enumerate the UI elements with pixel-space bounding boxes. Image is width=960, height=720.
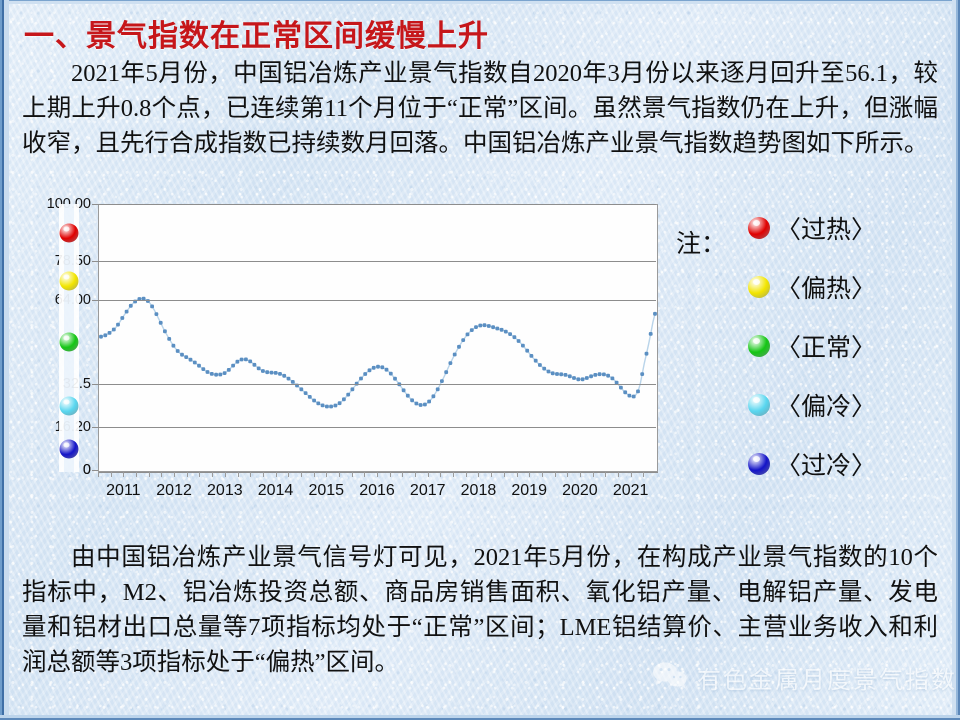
x-axis-tick	[174, 472, 175, 477]
x-axis-tick	[314, 472, 315, 477]
gridline	[98, 427, 656, 428]
x-axis-tick	[643, 472, 644, 477]
x-axis-tick	[238, 472, 239, 477]
x-axis-tick	[123, 472, 124, 477]
x-axis-tick	[440, 472, 441, 477]
legend-ball-icon	[748, 394, 770, 416]
x-axis-tick	[250, 472, 251, 477]
x-axis-tick	[529, 472, 530, 477]
x-axis-label: 2019	[511, 482, 547, 500]
gauge-ball-overheated	[60, 224, 79, 243]
x-axis-tick	[402, 472, 403, 477]
legend-item-label: 〈过热〉	[776, 210, 876, 246]
page-border-bottom	[0, 715, 960, 720]
y-axis-tick	[92, 470, 98, 471]
page-title: 一、景气指数在正常区间缓慢上升	[24, 11, 489, 55]
x-axis-tick	[428, 472, 429, 477]
page-border-right	[952, 0, 960, 720]
legend-item-label: 〈正常〉	[776, 328, 876, 364]
x-axis-tick	[161, 472, 162, 477]
x-axis-tick	[415, 472, 416, 477]
x-axis-tick	[212, 472, 213, 477]
legend-item: 〈偏冷〉	[748, 387, 876, 423]
prosperity-index-chart: 016.2032.564.0078.50100.00 2011201220132…	[40, 196, 665, 516]
signal-light-paragraph: 由中国铝冶炼产业景气信号灯可见，2021年5月份，在构成产业景气指数的10个指标…	[22, 540, 938, 680]
x-axis-tick	[491, 472, 492, 477]
x-axis-tick	[631, 472, 632, 477]
gauge-ball-slightly-cold	[60, 397, 79, 416]
gridline	[98, 384, 656, 385]
x-axis-tick	[111, 472, 112, 477]
x-axis-tick	[288, 472, 289, 477]
legend-ball-icon	[748, 453, 770, 475]
legend-item: 〈过热〉	[748, 210, 876, 246]
x-axis-tick	[377, 472, 378, 477]
y-axis-tick	[92, 427, 98, 428]
x-axis-tick	[187, 472, 188, 477]
watermark-text: 有色金属月度景气指数	[697, 660, 957, 695]
intro-paragraph: 2021年5月份，中国铝冶炼产业景气指数自2020年3月份以来逐月回升至56.1…	[22, 56, 938, 161]
x-axis-tick	[149, 472, 150, 477]
legend-ball-icon	[748, 335, 770, 357]
x-axis-label: 2016	[359, 482, 395, 500]
x-axis-tick	[326, 472, 327, 477]
wechat-watermark: 有色金属月度景气指数	[652, 660, 957, 695]
x-axis-tick	[453, 472, 454, 477]
x-axis-label: 2018	[461, 482, 497, 500]
x-axis-tick	[466, 472, 467, 477]
x-axis-tick	[98, 472, 99, 477]
y-axis-tick	[92, 384, 98, 385]
x-axis-tick	[618, 472, 619, 477]
x-axis-tick	[301, 472, 302, 477]
legend-item: 〈偏热〉	[748, 269, 876, 305]
legend-note-label: 注：	[676, 224, 726, 260]
x-axis-tick	[517, 472, 518, 477]
x-axis-label: 2011	[106, 482, 140, 500]
legend-item: 〈正常〉	[748, 328, 876, 364]
x-axis-tick	[339, 472, 340, 477]
page-border-top	[0, 0, 960, 4]
legend-item: 〈过冷〉	[748, 446, 876, 482]
page-border-left	[0, 0, 9, 720]
gauge-ball-slightly-hot	[60, 272, 79, 291]
x-axis-tick	[364, 472, 365, 477]
signal-light-gauge	[56, 204, 82, 472]
x-axis-label: 2014	[258, 482, 294, 500]
x-axis-label: 2020	[562, 482, 598, 500]
x-axis-label: 2017	[410, 482, 446, 500]
legend-ball-icon	[748, 217, 770, 239]
y-axis-tick	[92, 261, 98, 262]
x-axis-tick	[478, 472, 479, 477]
x-axis-tick	[555, 472, 556, 477]
legend-ball-icon	[748, 276, 770, 298]
x-axis-label: 2021	[613, 482, 649, 500]
x-axis-tick	[276, 472, 277, 477]
x-axis-tick	[567, 472, 568, 477]
gauge-ball-too-cold	[60, 439, 79, 458]
x-axis-tick	[352, 472, 353, 477]
x-axis-tick	[136, 472, 137, 477]
x-axis-label: 2015	[308, 482, 344, 500]
wechat-icon	[652, 661, 688, 694]
gridline	[98, 261, 656, 262]
chart-x-axis	[98, 472, 658, 473]
x-axis-tick	[225, 472, 226, 477]
y-axis-label-zero: 0	[83, 462, 91, 478]
x-axis-tick	[580, 472, 581, 477]
legend-item-label: 〈偏冷〉	[776, 387, 876, 423]
y-axis-tick	[92, 204, 98, 205]
gauge-ball-normal	[60, 333, 79, 352]
x-axis-tick	[199, 472, 200, 477]
x-axis-tick	[542, 472, 543, 477]
x-axis-tick	[593, 472, 594, 477]
chart-plot-area	[98, 204, 658, 472]
x-axis-tick	[390, 472, 391, 477]
index-line-series	[99, 205, 657, 471]
y-axis-tick	[92, 300, 98, 301]
x-axis-label: 2012	[156, 482, 192, 500]
x-axis-tick	[263, 472, 264, 477]
gridline	[98, 300, 656, 301]
x-axis-label: 2013	[207, 482, 243, 500]
x-axis-tick	[605, 472, 606, 477]
gridline	[98, 204, 656, 205]
legend-item-label: 〈过冷〉	[776, 446, 876, 482]
legend-item-label: 〈偏热〉	[776, 269, 876, 305]
x-axis-tick	[504, 472, 505, 477]
